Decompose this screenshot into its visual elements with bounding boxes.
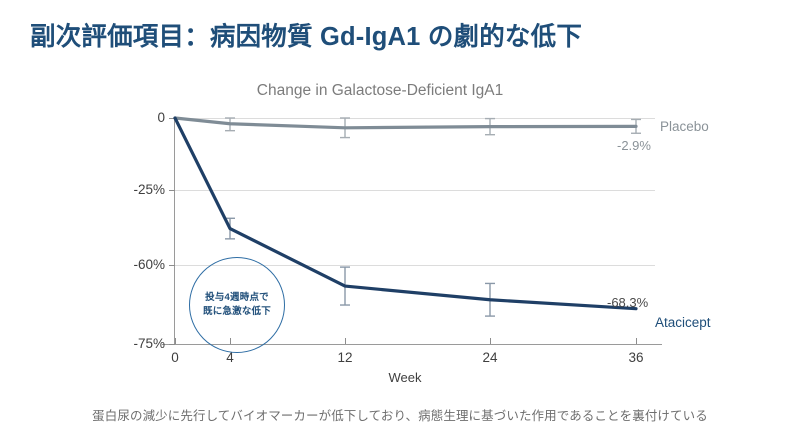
legend-label-atacicept: Atacicept: [655, 315, 711, 330]
annotation-line-1: 投与4週時点で: [205, 291, 269, 305]
slide-caption: 蛋白尿の減少に先行してバイオマーカーが低下しており、病態生理に基づいた作用である…: [0, 405, 800, 424]
legend-label-placebo: Placebo: [660, 119, 709, 134]
annotation-line-2: 既に急激な低下: [203, 305, 271, 319]
chart-figure: Change in Galactose-Deficient IgA1 0 -25…: [0, 0, 800, 400]
series-plot: [0, 0, 800, 400]
value-label-placebo: -2.9%: [617, 138, 651, 153]
series-line-placebo: [175, 118, 636, 128]
annotation-callout: 投与4週時点で 既に急激な低下: [189, 257, 285, 353]
slide-canvas: 副次評価項目：病因物質 Gd-IgA1 の劇的な低下 Change in Gal…: [0, 0, 800, 435]
value-label-atacicept: -68.3%: [607, 295, 648, 310]
